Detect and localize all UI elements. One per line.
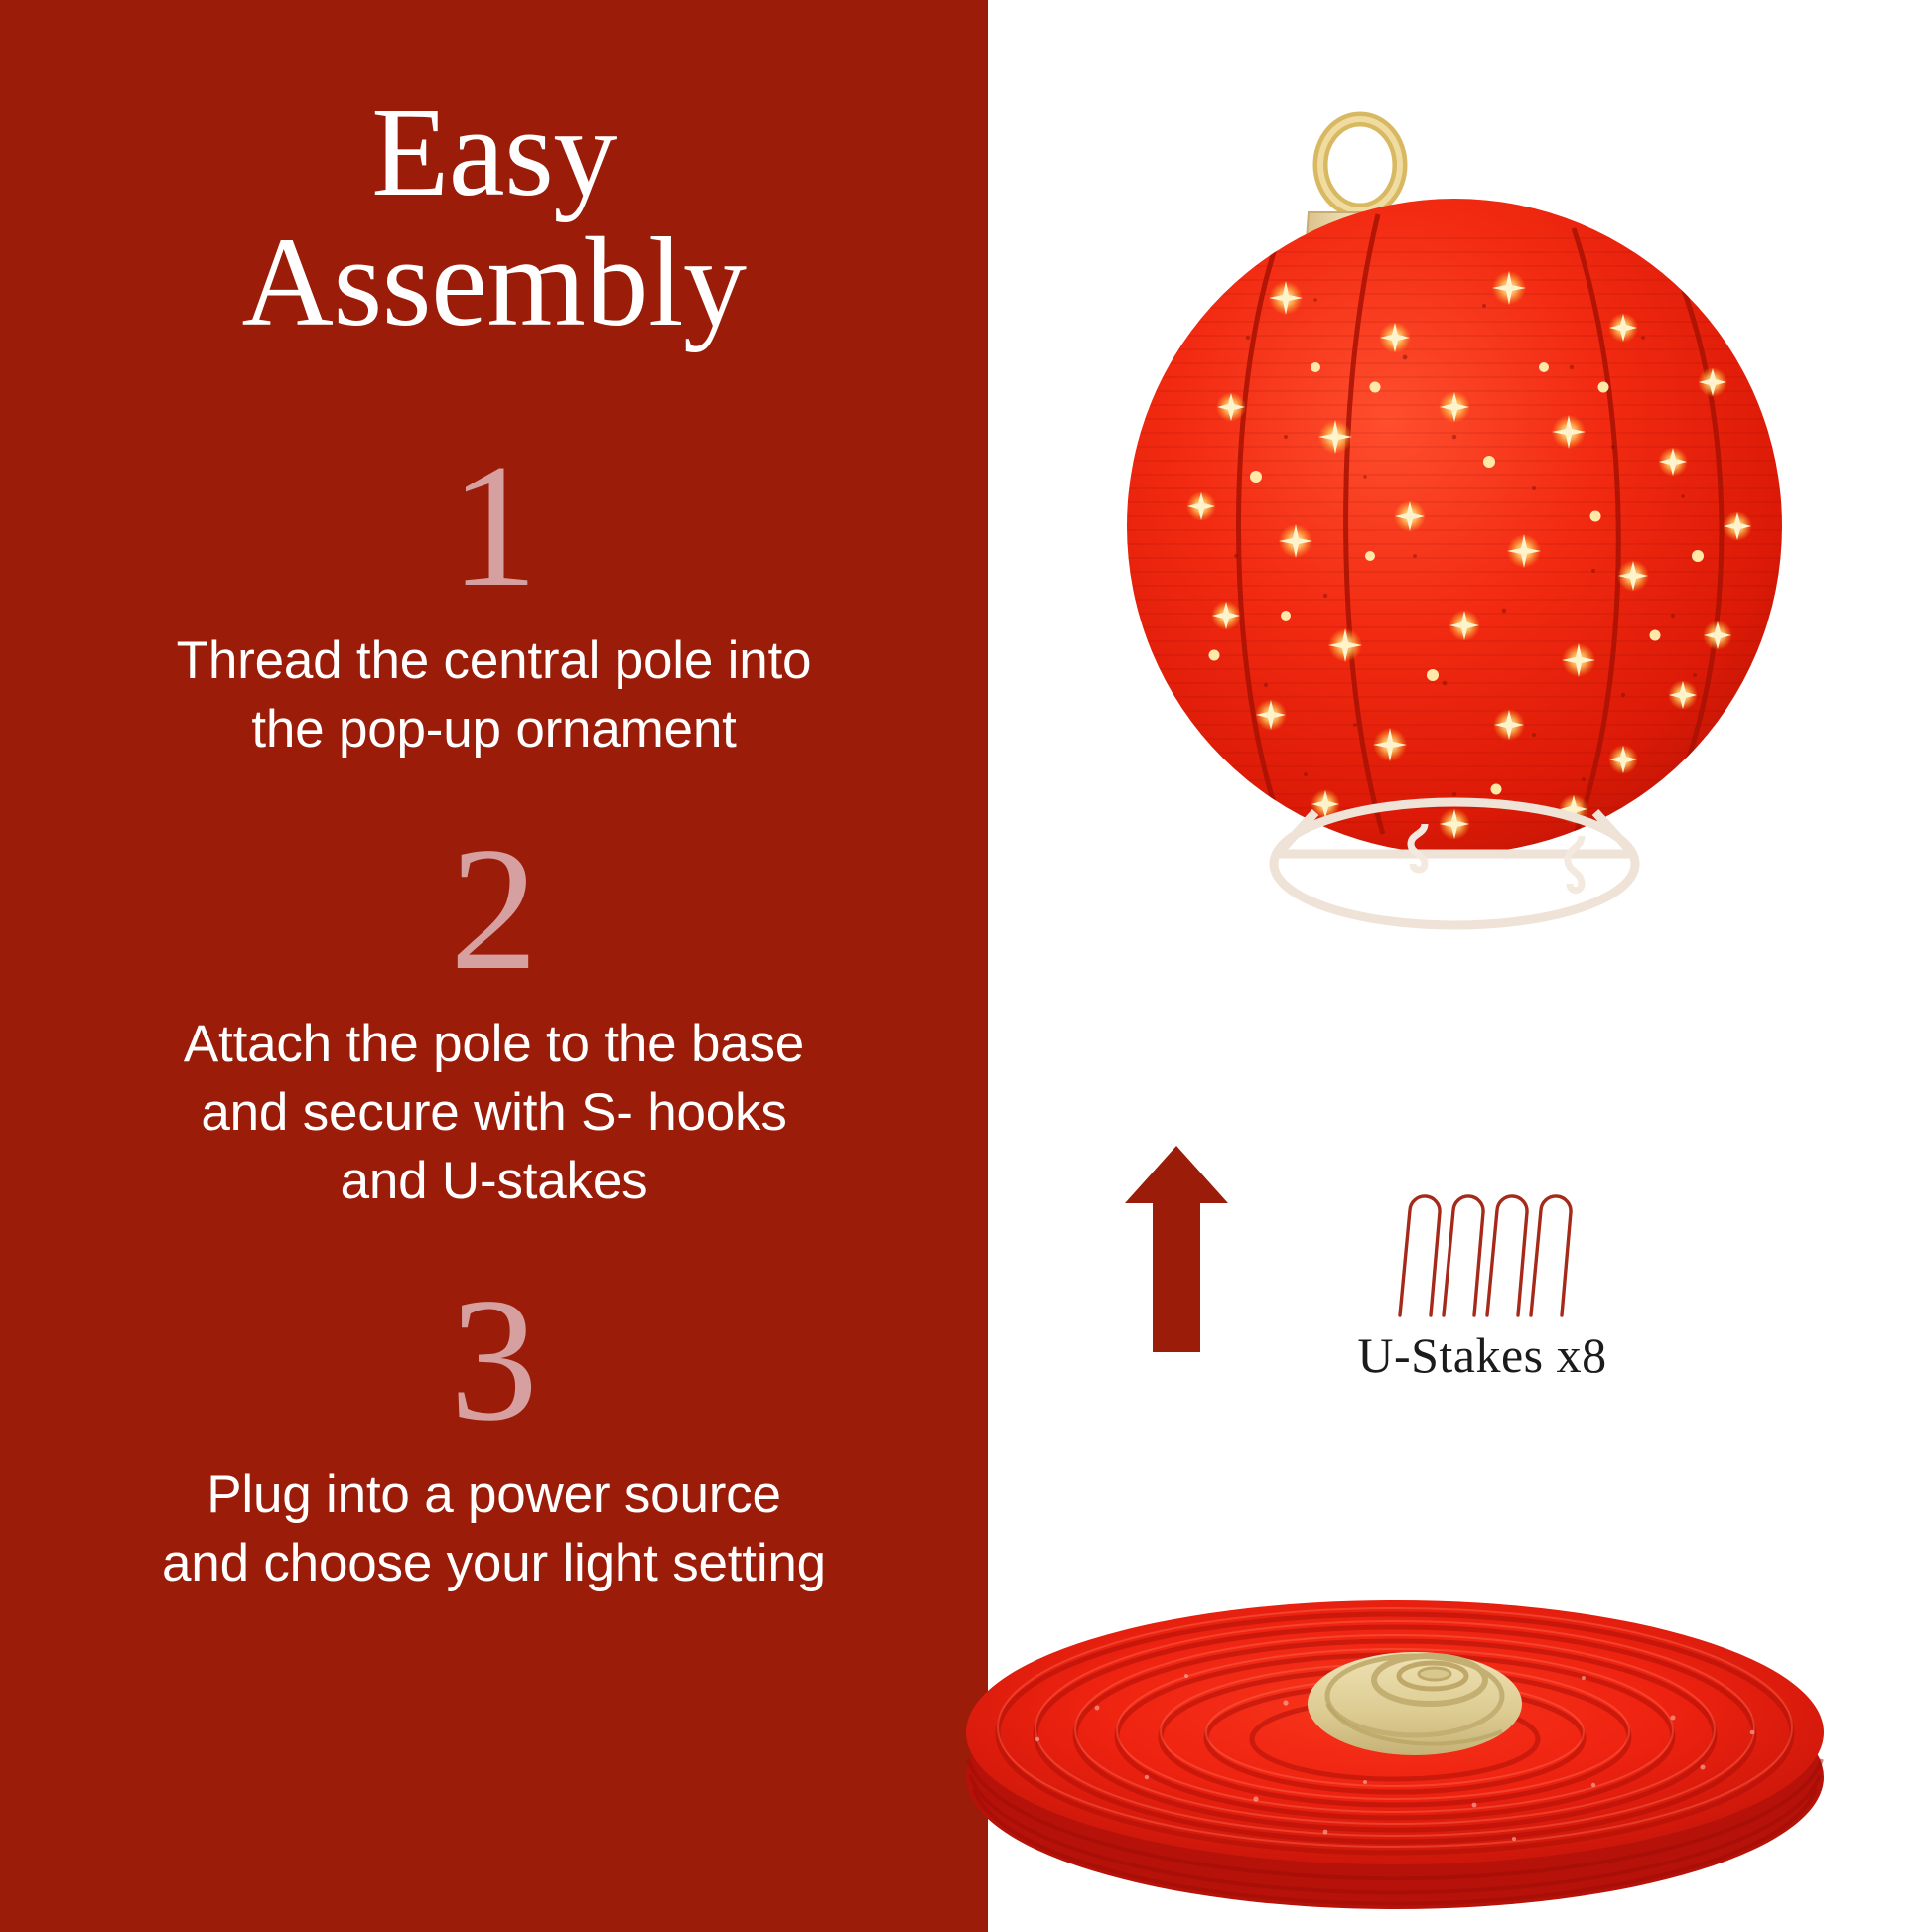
step-number-3: 3 <box>0 1271 988 1448</box>
u-stakes-icon <box>1378 1167 1587 1320</box>
assembly-instructions-page: Easy Assembly 1 Thread the central pole … <box>0 0 1932 1932</box>
step-item-2: 2 Attach the pole to the base and secure… <box>0 820 988 1216</box>
assembled-ornament-image <box>988 40 1932 963</box>
step-number-2: 2 <box>0 820 988 997</box>
arrow-up-icon <box>1117 1140 1236 1358</box>
step-item-3: 3 Plug into a power source and choose yo… <box>0 1271 988 1598</box>
u-stakes-group: U-Stakes x8 <box>1264 1167 1701 1375</box>
product-imagery-panel: U-Stakes x8 <box>988 0 1932 1932</box>
step-text-3: Plug into a power source and choose your… <box>97 1461 892 1598</box>
ornament-ball <box>1127 199 1782 854</box>
u-stakes-label: U-Stakes x8 <box>1264 1326 1701 1384</box>
step-text-2: Attach the pole to the base and secure w… <box>97 1011 892 1216</box>
step-item-1: 1 Thread the central pole into the pop-u… <box>0 437 988 764</box>
ornament-ring-icon <box>1320 119 1400 210</box>
step-number-1: 1 <box>0 437 988 614</box>
instructions-panel: Easy Assembly 1 Thread the central pole … <box>0 0 988 1932</box>
step-text-1: Thread the central pole into the pop-up … <box>97 627 892 764</box>
collapsed-ornament-image <box>859 1529 1931 1926</box>
collapsed-cap-coil <box>1308 1652 1522 1755</box>
page-title: Easy Assembly <box>0 87 988 346</box>
steps-list: 1 Thread the central pole into the pop-u… <box>0 437 988 1654</box>
